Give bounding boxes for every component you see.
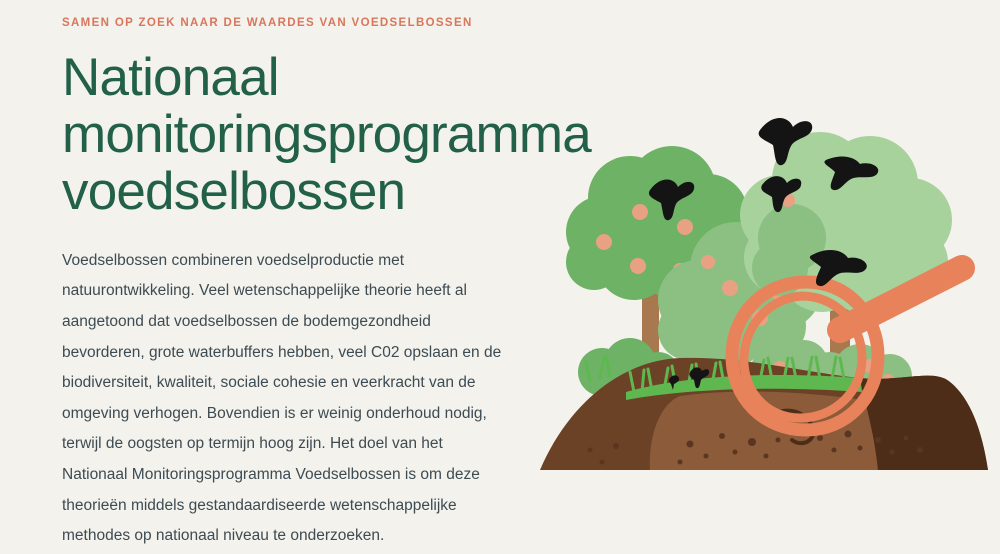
soil-cross-section-dark	[860, 376, 988, 470]
body-line-8: Nationaal Monitoringsprogramma Voedselbo…	[62, 460, 532, 491]
hero-body-text: Voedselbossen combineren voedselproducti…	[62, 246, 532, 552]
body-line-6: omgeving verhogen. Bovendien is er weini…	[62, 399, 532, 430]
headline-line-2: monitoringsprogramma	[62, 106, 542, 163]
body-line-9: theorieën middels gestandaardiseerde wet…	[62, 491, 532, 522]
body-line-10: methodes op nationaal niveau te onderzoe…	[62, 521, 532, 552]
page-title: Nationaal monitoringsprogramma voedselbo…	[62, 49, 542, 220]
hero-section: SAMEN OP ZOEK NAAR DE WAARDES VAN VOEDSE…	[0, 0, 1000, 554]
body-line-3: aangetoond dat voedselbossen de bodemgez…	[62, 307, 532, 338]
eyebrow-label: SAMEN OP ZOEK NAAR DE WAARDES VAN VOEDSE…	[62, 17, 542, 31]
body-line-1: Voedselbossen combineren voedselproducti…	[62, 246, 532, 277]
hero-text-column: SAMEN OP ZOEK NAAR DE WAARDES VAN VOEDSE…	[62, 17, 542, 552]
body-line-5: biodiversiteit, kwaliteit, sociale cohes…	[62, 368, 532, 399]
headline-line-3: voedselbossen	[62, 163, 542, 220]
body-line-7: terwijl de oogsten op termijn hoog zijn.…	[62, 429, 532, 460]
headline-line-1: Nationaal	[62, 49, 542, 106]
forest-illustration	[530, 0, 1000, 554]
body-line-4: bevorderen, grote waterbuffers hebben, v…	[62, 338, 532, 369]
body-line-2: natuurontwikkeling. Veel wetenschappelij…	[62, 276, 532, 307]
forest-illustration-svg	[530, 0, 1000, 554]
